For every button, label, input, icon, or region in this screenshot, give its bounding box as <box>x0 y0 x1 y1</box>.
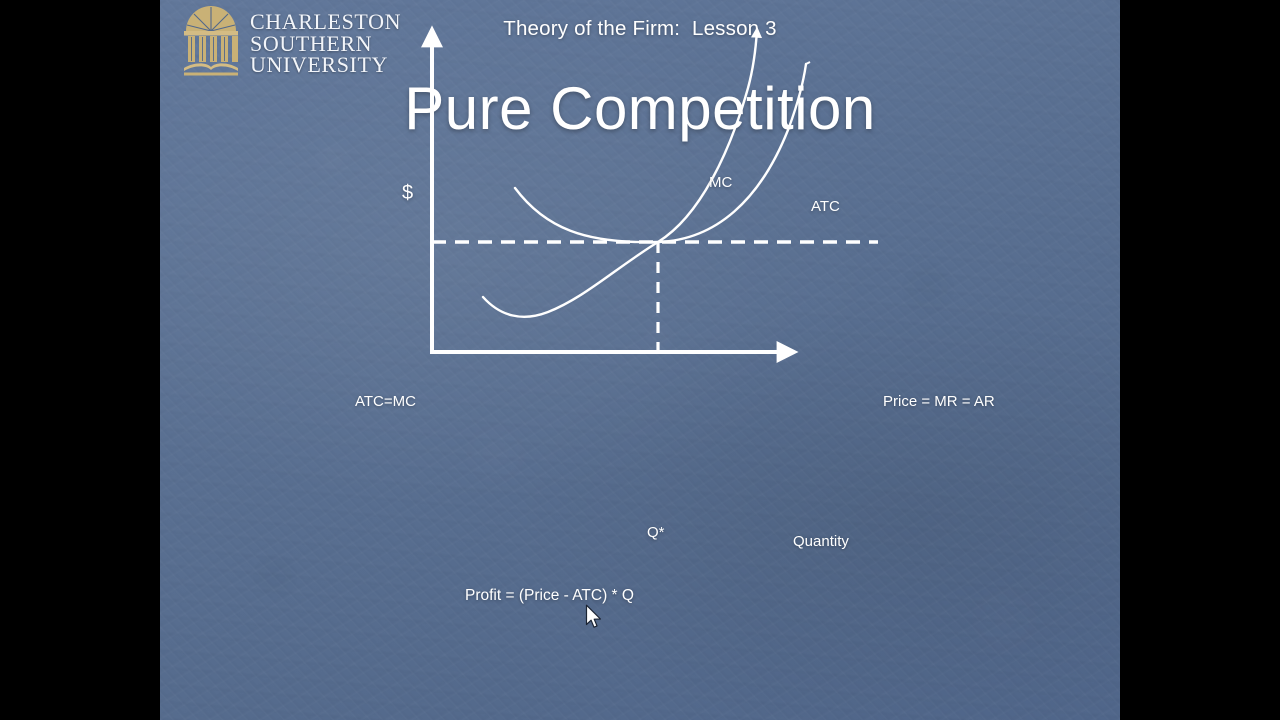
letterbox-left <box>0 0 160 720</box>
y-axis-label: $ <box>402 182 413 205</box>
letterbox-right <box>1120 0 1280 720</box>
atc-curve <box>515 64 806 242</box>
slide-content-layer: CHARLESTON SOUTHERN UNIVERSITY Theory of… <box>160 0 1120 720</box>
optimal-quantity-label: Q* <box>647 524 665 541</box>
atc-label-leader <box>806 62 810 64</box>
presentation-slide: CHARLESTON SOUTHERN UNIVERSITY Theory of… <box>160 0 1120 720</box>
pure-competition-chart <box>160 0 1120 720</box>
demand-line-right-label: Price = MR = AR <box>883 393 995 410</box>
profit-formula-text: Profit = (Price - ATC) * Q <box>465 587 634 605</box>
video-player-screen: CHARLESTON SOUTHERN UNIVERSITY Theory of… <box>0 0 1280 720</box>
x-axis-label: Quantity <box>793 533 849 550</box>
equilibrium-price-left-label: ATC=MC <box>355 393 416 410</box>
mc-curve-label: MC <box>709 174 732 191</box>
atc-curve-label: ATC <box>811 198 840 215</box>
